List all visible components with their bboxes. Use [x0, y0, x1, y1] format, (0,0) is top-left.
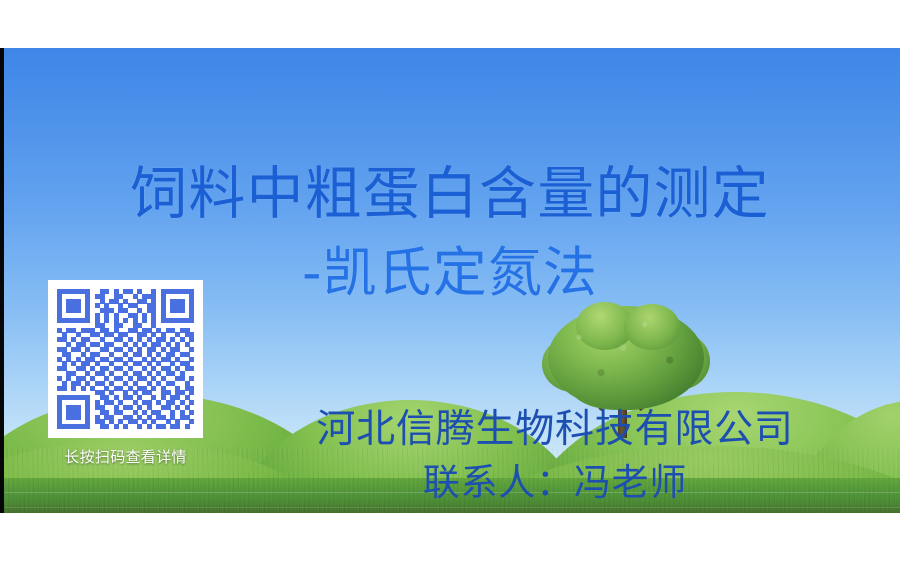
video-player-frame[interactable]: 饲料中粗蛋白含量的测定 -凯氏定氮法 河北信腾生物科技有限公司 联系人：冯老师 …	[0, 48, 900, 513]
horizon-seam-lower	[4, 507, 900, 508]
contact-person: 联系人：冯老师	[210, 460, 900, 506]
frame-left-bezel	[0, 48, 4, 513]
qr-code-icon[interactable]	[57, 289, 194, 429]
qr-code-card[interactable]	[48, 280, 203, 438]
tree-foliage-texture	[548, 306, 704, 410]
slide-title: 饲料中粗蛋白含量的测定	[0, 160, 900, 228]
company-name: 河北信腾生物科技有限公司	[210, 406, 900, 454]
video-page-background: 饲料中粗蛋白含量的测定 -凯氏定氮法 河北信腾生物科技有限公司 联系人：冯老师 …	[0, 0, 900, 561]
qr-code-caption: 长按扫码查看详情	[28, 446, 223, 468]
